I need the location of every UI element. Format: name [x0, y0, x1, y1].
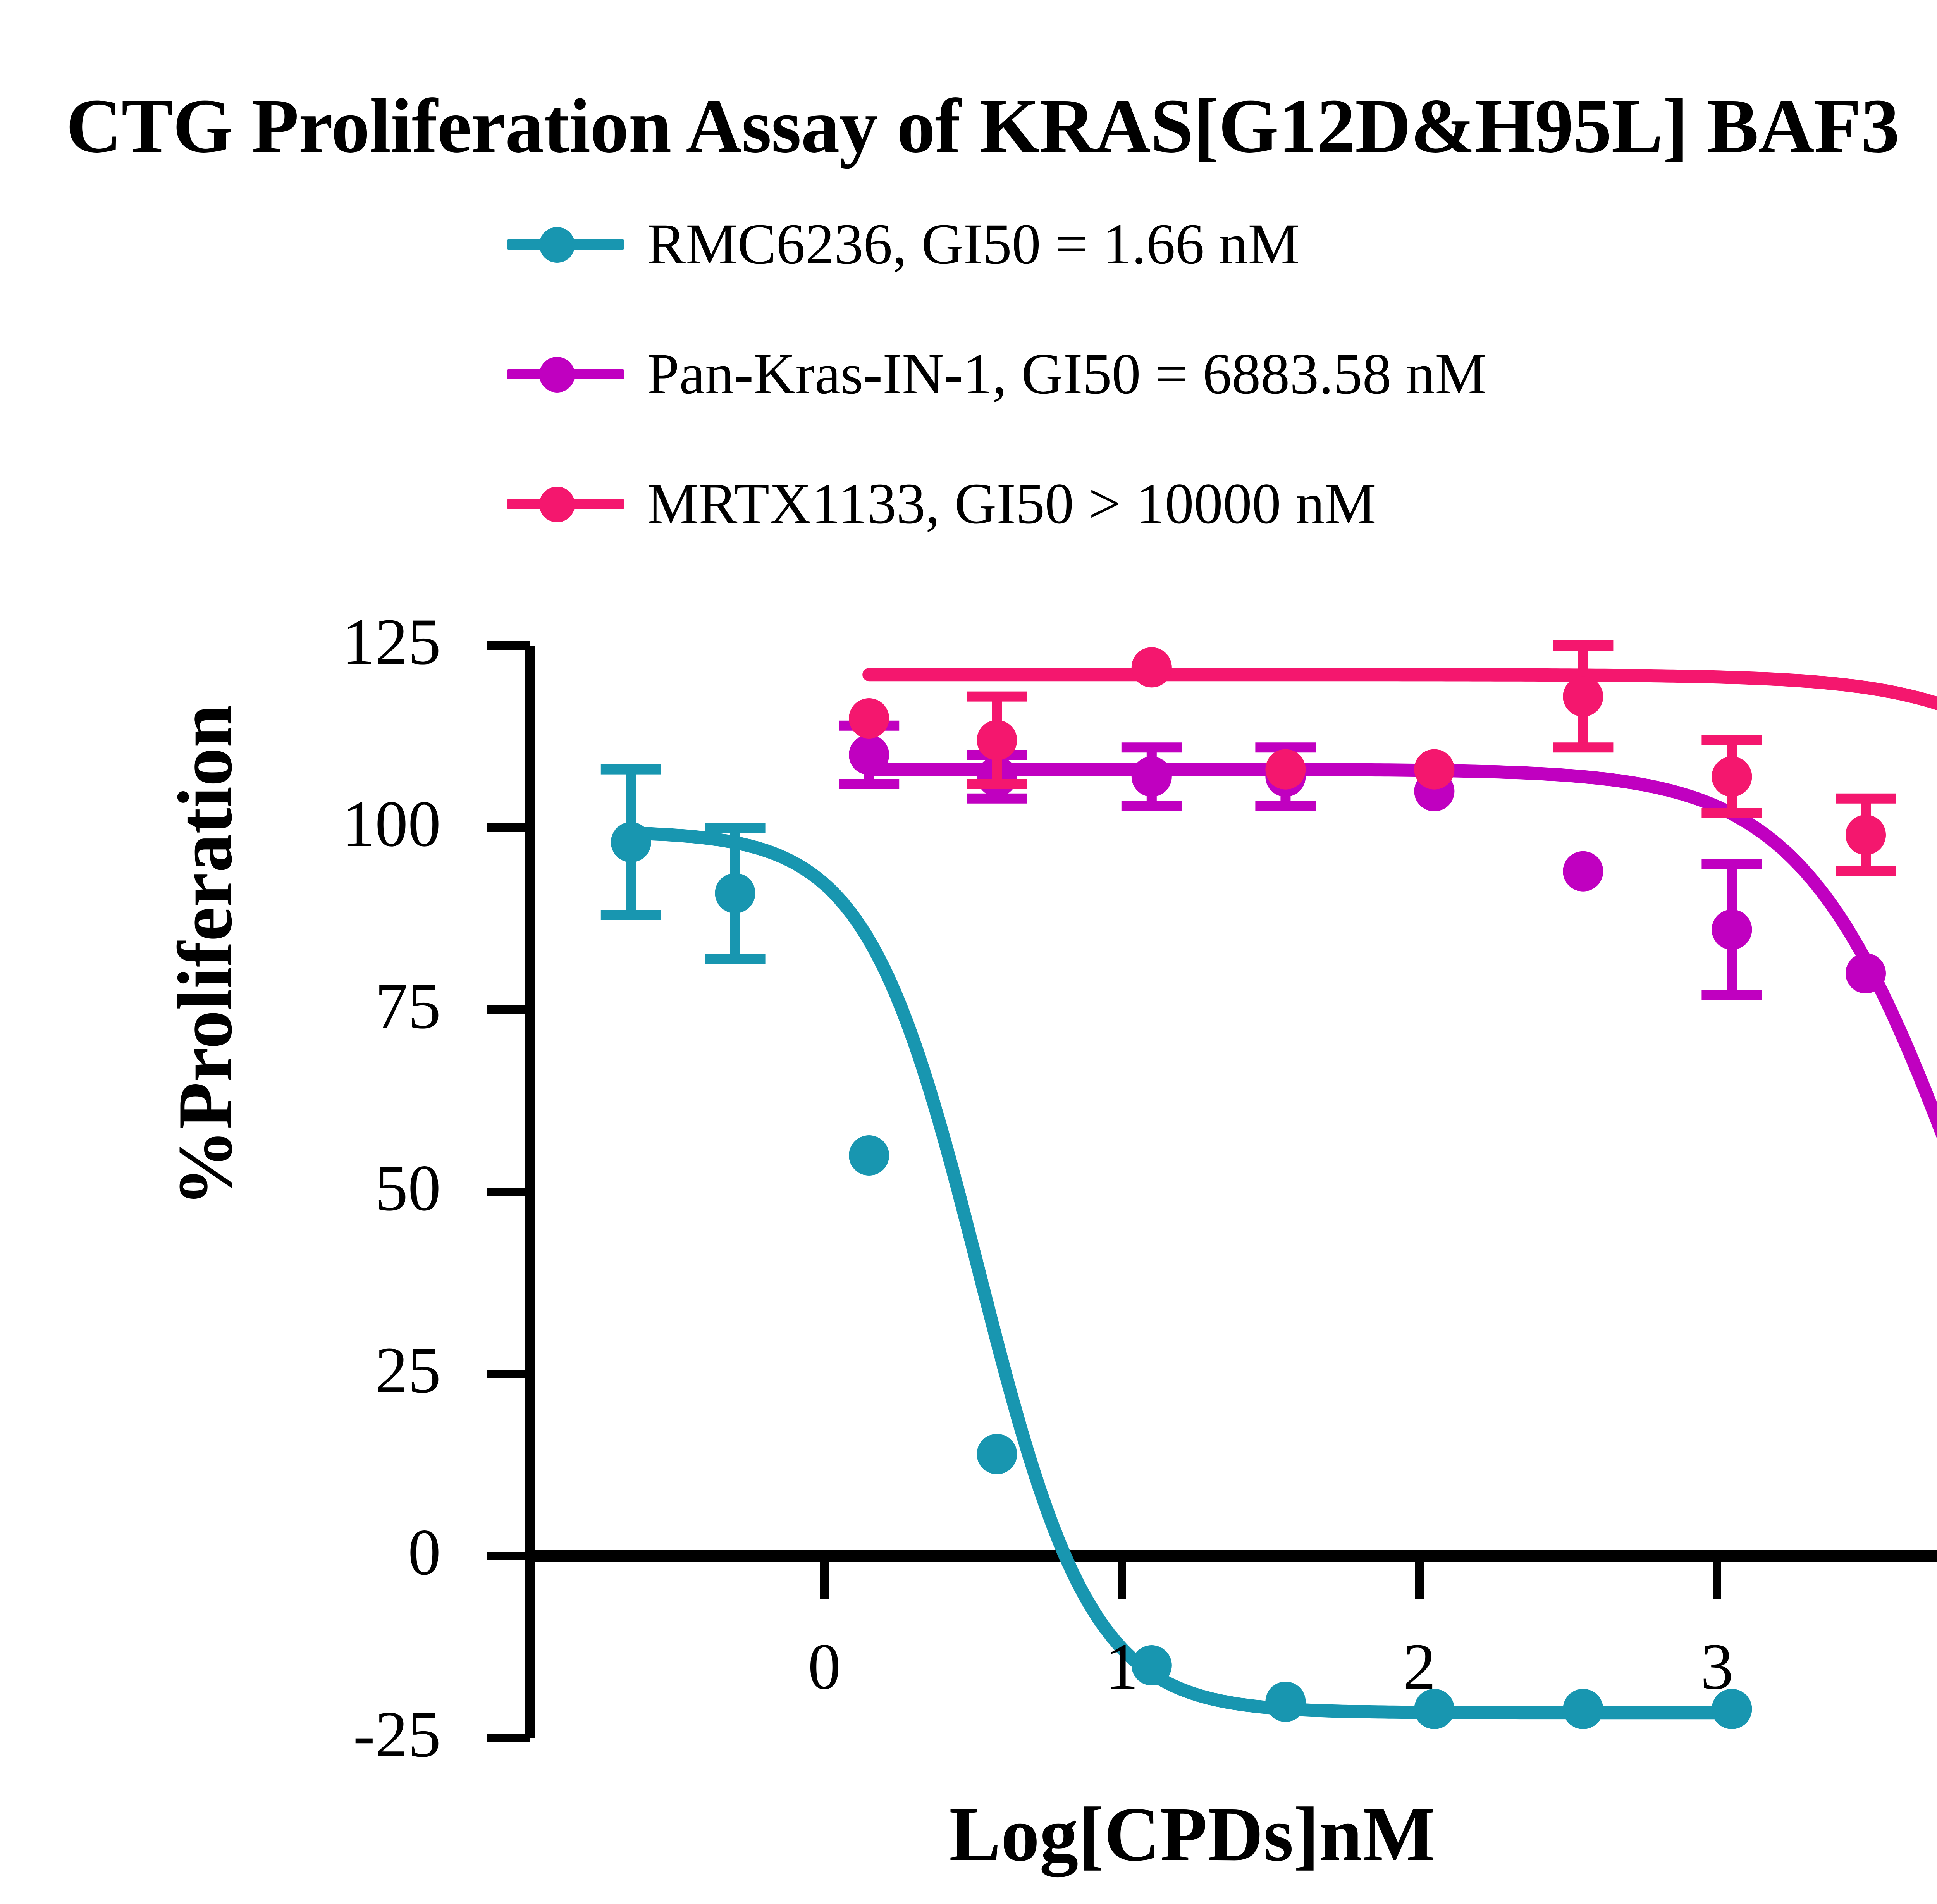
series-rmc6236 [601, 770, 1752, 1729]
data-point[interactable] [1132, 756, 1172, 797]
data-point[interactable] [1846, 815, 1886, 855]
y-tick-label: 100 [208, 791, 441, 857]
data-point[interactable] [849, 698, 889, 739]
data-point[interactable] [1563, 851, 1603, 892]
x-tick-label: 1 [1044, 1634, 1199, 1699]
y-tick-label: 0 [208, 1519, 441, 1585]
fit-curve [869, 675, 1937, 740]
y-tick-label: 25 [208, 1337, 441, 1403]
data-point[interactable] [1563, 1689, 1603, 1729]
y-tick-label: 50 [208, 1155, 441, 1221]
data-point[interactable] [1712, 756, 1752, 797]
y-tick-label: 75 [208, 973, 441, 1039]
data-point[interactable] [1265, 1682, 1306, 1722]
plot-area [0, 0, 1937, 1904]
data-point[interactable] [1563, 677, 1603, 717]
y-tick-label: -25 [208, 1701, 441, 1767]
fit-curve [631, 833, 1732, 1713]
x-tick-label: 3 [1639, 1634, 1794, 1699]
data-point[interactable] [849, 735, 889, 775]
fit-curve [869, 770, 1937, 1322]
data-point[interactable] [611, 822, 651, 862]
series-pan-kras-in-1 [839, 726, 1937, 1329]
data-point[interactable] [715, 873, 755, 913]
x-tick-label: 0 [747, 1634, 902, 1699]
data-point[interactable] [977, 720, 1017, 760]
data-point[interactable] [1265, 749, 1306, 790]
data-point[interactable] [1414, 749, 1454, 790]
data-point[interactable] [1712, 909, 1752, 950]
data-point[interactable] [849, 1135, 889, 1176]
chart-root: CTG Proliferation Assay of KRAS[G12D&H95… [0, 0, 1937, 1904]
data-point[interactable] [1846, 953, 1886, 993]
x-tick-label: 2 [1342, 1634, 1497, 1699]
data-point[interactable] [977, 1434, 1017, 1474]
y-tick-label: 125 [208, 609, 441, 675]
data-point[interactable] [1132, 647, 1172, 687]
